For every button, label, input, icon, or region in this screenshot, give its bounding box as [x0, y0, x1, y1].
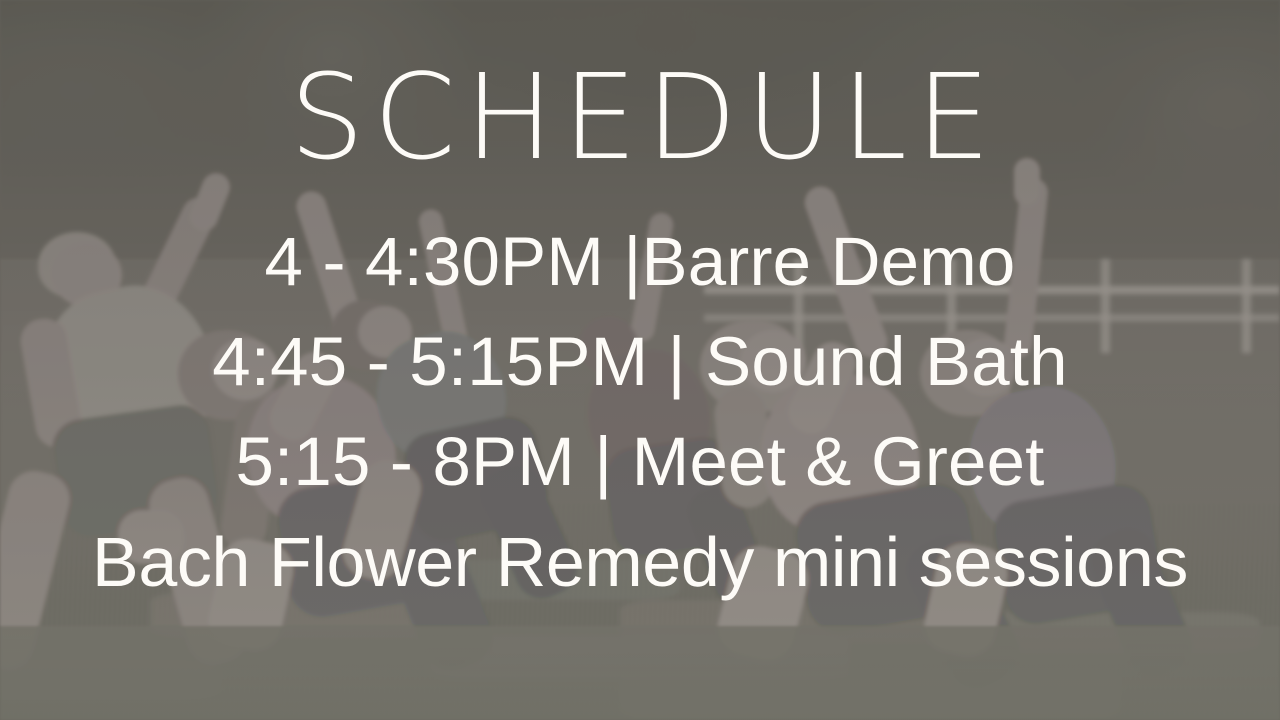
page-title: SCHEDULE — [280, 58, 999, 176]
schedule-line-1: 4 - 4:30PM |Barre Demo — [0, 212, 1280, 312]
schedule-line-4: Bach Flower Remedy mini sessions — [0, 512, 1280, 612]
schedule-list: 4 - 4:30PM |Barre Demo 4:45 - 5:15PM | S… — [0, 212, 1280, 612]
schedule-poster: SCHEDULE 4 - 4:30PM |Barre Demo 4:45 - 5… — [0, 0, 1280, 720]
poster-content: SCHEDULE 4 - 4:30PM |Barre Demo 4:45 - 5… — [0, 0, 1280, 720]
schedule-line-2: 4:45 - 5:15PM | Sound Bath — [0, 312, 1280, 412]
schedule-line-3: 5:15 - 8PM | Meet & Greet — [0, 412, 1280, 512]
